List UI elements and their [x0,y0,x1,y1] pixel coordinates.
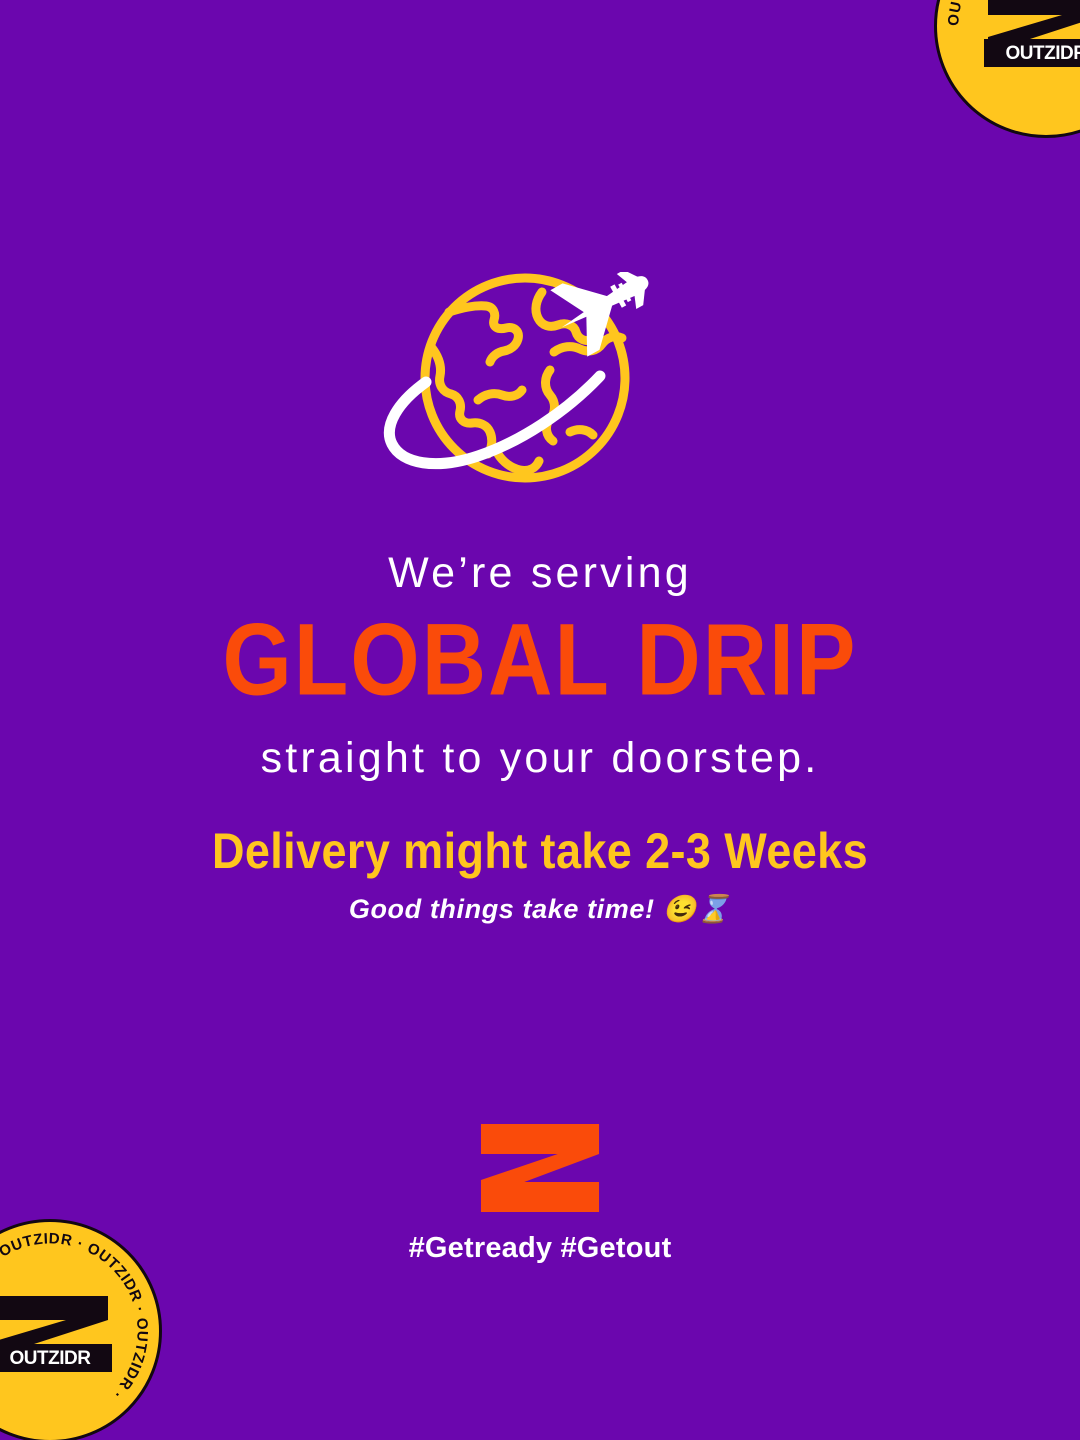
badge-wordmark-label: OUTZIDR [1006,44,1080,63]
badge-wordmark-top-right: OUTZIDR [984,39,1080,67]
brand-logo [479,1124,601,1212]
badge-top-right: OUTZIDR · OUTZIDR · OUTZIDR · OUTZIDR · … [934,0,1080,138]
badge-core-bottom-left: OUTZIDR [0,1294,112,1368]
globe-with-airplane-icon [370,272,710,494]
footer-block: #Getready #Getout [0,1124,1080,1265]
headline-line-2: GLOBAL DRIP [0,600,1080,718]
z-logo-icon [479,1124,601,1212]
badge-wordmark-bottom-left: OUTZIDR [0,1344,112,1372]
delivery-headline: Delivery might take 2-3 Weeks [0,823,1080,879]
delivery-block: Delivery might take 2-3 Weeks Good thing… [0,823,1080,926]
badge-core-top-right: OUTZIDR [984,0,1080,63]
promo-poster: OUTZIDR · OUTZIDR · OUTZIDR · OUTZIDR · … [0,0,1080,1440]
headline-line-1: We’re serving [0,548,1080,599]
hashtags-label: #Getready #Getout [409,1232,672,1265]
hero-illustration [0,272,1080,494]
badge-wordmark-label: OUTZIDR [10,1349,91,1368]
delivery-subtext: Good things take time! 😉⌛ [0,893,1080,925]
headline-block: We’re serving GLOBAL DRIP straight to yo… [0,548,1080,784]
headline-line-3: straight to your doorstep. [0,733,1080,784]
